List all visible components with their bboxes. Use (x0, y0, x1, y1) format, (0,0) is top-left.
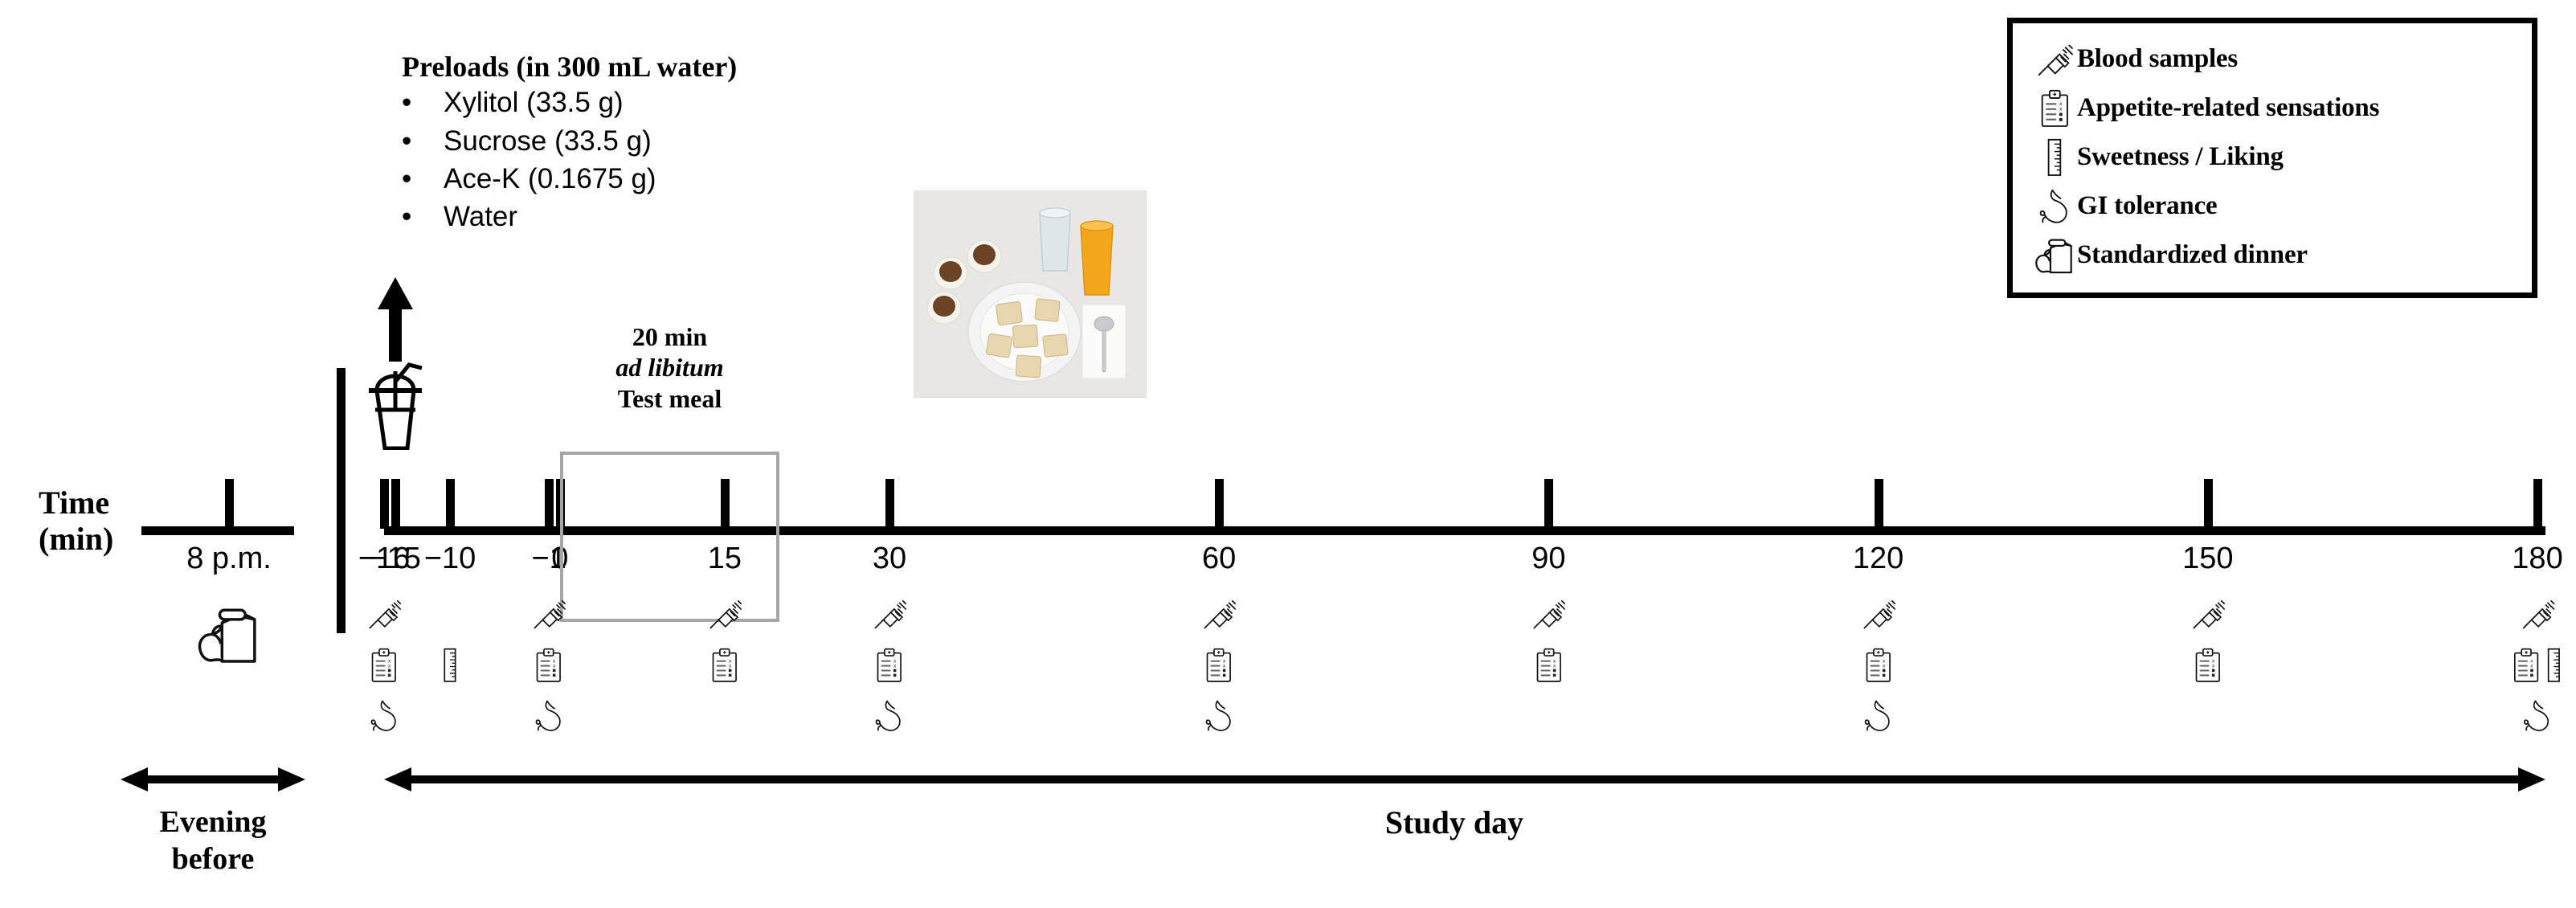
ruler-icon (441, 648, 459, 683)
stomach-icon (2522, 699, 2554, 733)
legend-item-label: Appetite-related sensations (2077, 93, 2379, 123)
preload-item: •Sucrose (33.5 g) (402, 122, 852, 160)
event-icon-slot (366, 699, 402, 751)
event-icon-slot (2512, 596, 2562, 648)
event-icon-group: xx ■■ (2512, 648, 2562, 683)
event-column: xx ■■ (872, 596, 907, 751)
syringe-icon (707, 596, 742, 632)
clipboard-icon: xx ■■ (875, 648, 903, 683)
axis-title-line1: Time (39, 485, 113, 521)
preload-item-label: Water (444, 198, 517, 235)
axis-tick-label: 90 (1531, 542, 1565, 576)
event-icon-group (1861, 596, 1896, 632)
event-icon-group: xx ■■ (2194, 648, 2222, 683)
axis-tick (1215, 479, 1224, 529)
preload-item-label: Xylitol (33.5 g) (444, 84, 624, 121)
stomach-icon (369, 699, 400, 733)
preload-cup-straw-icon (364, 354, 427, 454)
test-meal-duration: 20 min (472, 321, 868, 352)
evening-phase-label-line1: Evening (121, 804, 305, 841)
syringe-icon (366, 596, 402, 632)
preloads-list: •Xylitol (33.5 g)•Sucrose (33.5 g)•Ace-K… (402, 84, 852, 235)
svg-text:■: ■ (2530, 673, 2533, 678)
evening-event-column (192, 604, 267, 665)
svg-text:■: ■ (729, 673, 732, 678)
preload-bullet-icon: • (402, 198, 444, 235)
event-icon-slot (366, 596, 402, 648)
event-icon-slot (1201, 596, 1237, 648)
axis-title-line2: (min) (39, 521, 113, 558)
event-icon-group: xx ■■ (1205, 648, 1233, 683)
event-icon-slot: xx ■■ (2512, 648, 2562, 699)
event-icon-group (2522, 699, 2554, 733)
axis-tick (446, 479, 455, 529)
axis-tick-label: −10 (424, 542, 476, 576)
test-meal-adlibitum: ad libitum (472, 352, 868, 382)
evening-phase-label-line2: before (121, 841, 305, 877)
event-icon-group (531, 596, 566, 632)
clipboard-icon: xx ■■ (1205, 648, 1233, 683)
svg-text:■: ■ (1883, 673, 1886, 678)
event-icon-slot (531, 699, 566, 751)
tick-evening (225, 479, 234, 529)
svg-text:■: ■ (2059, 116, 2063, 122)
preload-bullet-icon: • (402, 84, 444, 121)
event-icon-group (2520, 596, 2555, 632)
axis-tick-label: 120 (1853, 542, 1903, 576)
svg-text:■: ■ (1552, 673, 1556, 678)
preload-item-label: Sucrose (33.5 g) (444, 122, 652, 160)
clipboard-icon: xx ■■ (1535, 648, 1563, 683)
clipboard-icon: xx ■■ (2512, 648, 2540, 683)
clipboard-icon: xx ■■ (534, 648, 562, 683)
axis-tick (885, 479, 894, 529)
event-column: xx ■■ (531, 596, 566, 751)
event-column: xx ■■ (2190, 596, 2226, 751)
evening-axis-line (141, 526, 294, 535)
axis-tick-label: 150 (2182, 542, 2233, 576)
axis-tick (545, 479, 554, 529)
stomach-icon (534, 699, 565, 733)
legend-icon-slot (2032, 188, 2077, 225)
evening-phase-label: Evening before (121, 804, 305, 878)
legend-item-label: Blood samples (2077, 44, 2238, 74)
event-icon-group: xx ■■ (370, 648, 398, 683)
event-icon-slot (1861, 699, 1896, 751)
axis-tick-label: −15 (369, 542, 420, 576)
preloads-block: Preloads (in 300 mL water) •Xylitol (33.… (402, 50, 852, 235)
event-icon-group: xx ■■ (710, 648, 738, 683)
axis-title: Time (min) (39, 485, 113, 558)
clipboard-icon: xx ■■ (1864, 648, 1892, 683)
syringe-icon (2520, 596, 2555, 632)
event-icon-slot (441, 648, 459, 699)
legend-item: Sweetness / Liking (2032, 133, 2517, 182)
syringe-icon (872, 596, 907, 632)
legend-icon-slot (2032, 40, 2077, 79)
event-column: xx ■■ (1201, 596, 1237, 751)
event-icon-group (1204, 699, 1235, 733)
event-icon-slot: xx ■■ (366, 648, 402, 699)
study-phase-arrow (384, 767, 2545, 791)
legend-item-label: Standardized dinner (2077, 240, 2308, 270)
event-icon-slot: xx ■■ (1201, 648, 1237, 699)
axis-tick-label: 60 (1202, 542, 1236, 576)
event-icon-group: xx ■■ (1535, 648, 1563, 683)
event-icon-group (1862, 699, 1894, 733)
event-icon-group (1531, 596, 1567, 632)
preloads-title: Preloads (in 300 mL water) (402, 50, 852, 84)
legend-icon-slot: xx ■■ (2032, 89, 2077, 128)
axis-tick (391, 479, 400, 529)
lunchbag-icon (192, 604, 267, 665)
event-icon-slot (707, 596, 742, 648)
clipboard-icon: xx ■■ (710, 648, 738, 683)
syringe-icon (2190, 596, 2226, 632)
preload-item: •Ace-K (0.1675 g) (402, 160, 852, 198)
event-icon-group (366, 596, 402, 632)
event-column: xx ■■ (1531, 596, 1567, 751)
event-icon-slot: xx ■■ (872, 648, 907, 699)
event-icon-slot (1531, 596, 1567, 648)
ruler-icon (2545, 648, 2563, 683)
axis-tick (2533, 479, 2542, 529)
legend-box: Blood samples xx ■■ Appetite-related sen… (2007, 18, 2537, 298)
axis-tick (1875, 479, 1883, 529)
event-icon-slot (1861, 596, 1896, 648)
event-column: xx ■■ (2512, 596, 2562, 751)
svg-text:■: ■ (893, 673, 897, 678)
event-icon-group (2190, 596, 2226, 632)
event-icon-group (441, 648, 459, 683)
event-icon-slot: xx ■■ (1861, 648, 1896, 699)
tick-label-evening: 8 p.m. (186, 542, 272, 576)
event-icon-group (872, 596, 907, 632)
study-phase-label: Study day (1253, 804, 1655, 841)
preload-bullet-icon: • (402, 122, 444, 160)
event-icon-slot: xx ■■ (2190, 648, 2226, 699)
event-icon-slot: xx ■■ (531, 648, 566, 699)
event-icon-slot (1201, 699, 1237, 751)
preload-item-label: Ace-K (0.1675 g) (444, 160, 656, 198)
event-icon-slot: xx ■■ (707, 648, 742, 699)
section-divider (337, 368, 346, 633)
stomach-icon (1204, 699, 1235, 733)
event-icon-group (1201, 596, 1237, 632)
event-icon-slot (2190, 596, 2226, 648)
legend-item-label: Sweetness / Liking (2077, 142, 2284, 172)
test-meal-window-box (560, 452, 779, 622)
test-meal-label: Test meal (472, 383, 868, 414)
evening-phase-arrow (121, 767, 305, 791)
event-icon-slot (872, 596, 907, 648)
legend-item-label: GI tolerance (2077, 191, 2217, 221)
syringe-icon (1201, 596, 1237, 632)
legend-item: xx ■■ Appetite-related sensations (2032, 84, 2517, 133)
event-icon-slot (2512, 699, 2562, 751)
svg-text:■: ■ (1223, 673, 1226, 678)
stomach-icon (874, 699, 906, 733)
axis-tick (380, 479, 389, 529)
event-column (441, 596, 459, 751)
event-icon-slot (872, 699, 907, 751)
event-icon-group (369, 699, 400, 733)
syringe-icon (531, 596, 566, 632)
legend-item: GI tolerance (2032, 182, 2517, 231)
event-icon-group (534, 699, 565, 733)
event-column: xx ■■ (707, 596, 742, 751)
preload-item: •Water (402, 198, 852, 235)
test-meal-photo (914, 190, 1147, 398)
clipboard-icon: xx ■■ (2194, 648, 2222, 683)
legend-icon-slot (2032, 138, 2077, 177)
axis-tick (1544, 479, 1553, 529)
stomach-icon (2038, 188, 2071, 225)
event-icon-group: xx ■■ (1864, 648, 1892, 683)
legend-item: Blood samples (2032, 35, 2517, 84)
event-icon-group: xx ■■ (534, 648, 562, 683)
event-icon-slot (531, 596, 566, 648)
event-column: xx ■■ (1861, 596, 1896, 751)
event-icon-group (707, 596, 742, 632)
clipboard-icon: xx ■■ (370, 648, 398, 683)
event-column: xx ■■ (366, 596, 402, 751)
syringe-icon (1531, 596, 1567, 632)
test-meal-caption: 20 min ad libitum Test meal (472, 321, 868, 414)
axis-tick-label: 30 (873, 542, 906, 576)
preload-item: •Xylitol (33.5 g) (402, 84, 852, 121)
svg-text:■: ■ (553, 673, 556, 678)
svg-text:■: ■ (388, 673, 391, 678)
event-icon-group (874, 699, 906, 733)
stomach-icon (1862, 699, 1894, 733)
clipboard-icon: xx ■■ (2039, 89, 2071, 128)
syringe-icon (2035, 40, 2074, 79)
event-icon-slot: xx ■■ (1531, 648, 1567, 699)
syringe-icon (1861, 596, 1896, 632)
event-icon-group: xx ■■ (875, 648, 903, 683)
svg-text:■: ■ (2212, 673, 2215, 678)
ruler-icon (2045, 138, 2064, 177)
legend-item: Standardized dinner (2032, 231, 2517, 280)
lunchbag-icon (2031, 236, 2079, 275)
preload-bullet-icon: • (402, 160, 444, 198)
axis-tick (2204, 479, 2213, 529)
legend-icon-slot (2032, 236, 2077, 275)
axis-tick-label: 180 (2512, 542, 2562, 576)
